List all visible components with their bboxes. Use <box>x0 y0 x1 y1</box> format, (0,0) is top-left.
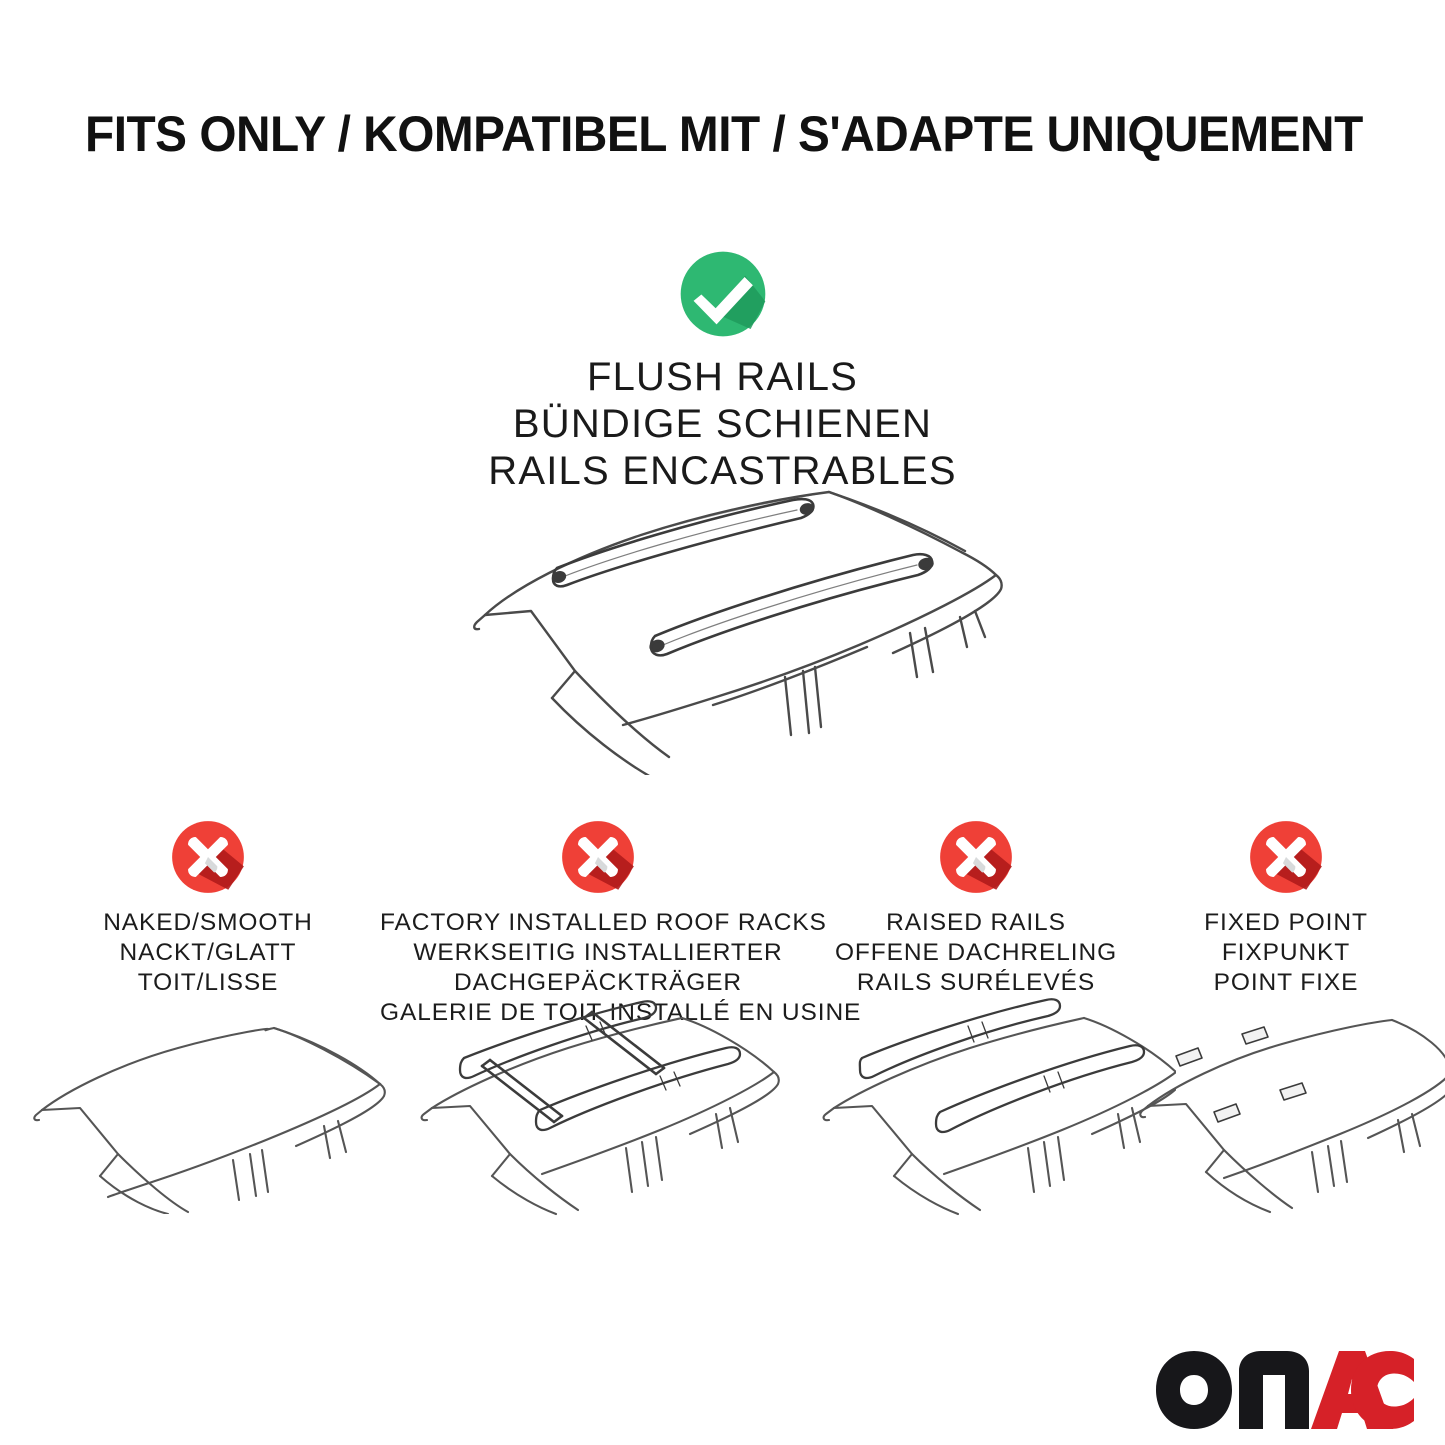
label-line-de-1: WERKSEITIG INSTALLIERTER <box>380 938 816 968</box>
omac-logo-mark <box>1153 1345 1415 1437</box>
compatible-line-en: FLUSH RAILS <box>0 354 1445 401</box>
omac-letter-m <box>1239 1351 1309 1429</box>
green-check-icon <box>677 248 769 340</box>
red-x-icon <box>1247 818 1325 896</box>
label-line-en: FACTORY INSTALLED ROOF RACKS <box>380 908 816 938</box>
omac-letter-o <box>1156 1351 1232 1429</box>
car-roof-with-flush-rails-illustration <box>455 465 1015 775</box>
red-x-icon <box>169 818 247 896</box>
omac-logo: OMAC <box>1153 1345 1415 1437</box>
car-roof-fixed-point-illustration <box>1136 1010 1445 1215</box>
incompatible-item-raised-rails: RAISED RAILS OFFENE DACHRELING RAILS SUR… <box>816 818 1136 998</box>
incompatible-section: NAKED/SMOOTH NACKT/GLATT TOIT/LISSE <box>0 818 1445 1238</box>
label-line-en: NAKED/SMOOTH <box>28 908 388 938</box>
label-line-en: RAISED RAILS <box>816 908 1136 938</box>
compatible-line-de: BÜNDIGE SCHIENEN <box>0 401 1445 448</box>
compatible-section: FLUSH RAILS BÜNDIGE SCHIENEN RAILS ENCAS… <box>0 248 1445 496</box>
label-line-fr: POINT FIXE <box>1136 968 1436 998</box>
label-line-de-2: DACHGEPÄCKTRÄGER <box>380 968 816 998</box>
red-x-icon <box>559 818 637 896</box>
label-line-de: NACKT/GLATT <box>28 938 388 968</box>
label-line-de: FIXPUNKT <box>1136 938 1436 968</box>
label-line-en: FIXED POINT <box>1136 908 1436 938</box>
incompatible-label: RAISED RAILS OFFENE DACHRELING RAILS SUR… <box>816 908 1136 998</box>
car-roof-naked-smooth-illustration <box>28 1014 388 1214</box>
label-line-fr: TOIT/LISSE <box>28 968 388 998</box>
page-title: FITS ONLY / KOMPATIBEL MIT / S'ADAPTE UN… <box>85 108 1317 161</box>
incompatible-item-fixed-point: FIXED POINT FIXPUNKT POINT FIXE <box>1136 818 1436 998</box>
fitment-infographic: FITS ONLY / KOMPATIBEL MIT / S'ADAPTE UN… <box>0 0 1445 1445</box>
red-x-icon <box>937 818 1015 896</box>
label-line-de: OFFENE DACHRELING <box>816 938 1136 968</box>
label-line-fr: RAILS SURÉLEVÉS <box>816 968 1136 998</box>
car-roof-factory-roof-racks-illustration <box>408 996 788 1216</box>
incompatible-item-naked-smooth: NAKED/SMOOTH NACKT/GLATT TOIT/LISSE <box>28 818 388 998</box>
incompatible-label: FIXED POINT FIXPUNKT POINT FIXE <box>1136 908 1436 998</box>
car-roof-raised-rails-illustration <box>816 996 1176 1216</box>
incompatible-item-factory-roof-racks: FACTORY INSTALLED ROOF RACKS WERKSEITIG … <box>380 818 816 1028</box>
incompatible-label: NAKED/SMOOTH NACKT/GLATT TOIT/LISSE <box>28 908 388 998</box>
